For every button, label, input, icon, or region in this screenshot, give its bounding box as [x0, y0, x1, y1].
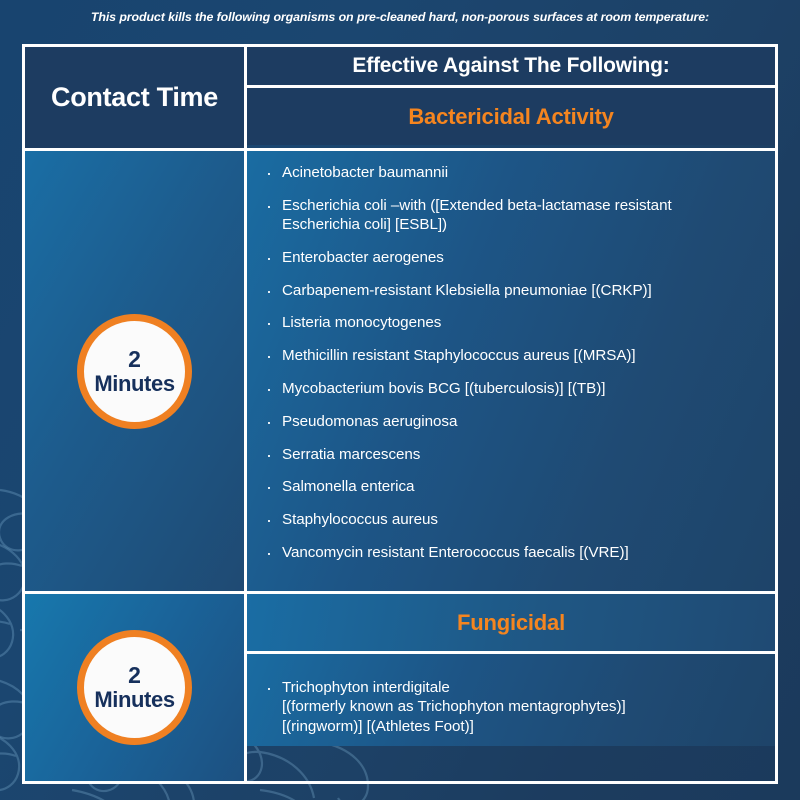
organism-text-line: Enterobacter aerogenes — [282, 249, 444, 266]
organism-text-line: Mycobacterium bovis BCG [(tuberculosis)]… — [282, 380, 605, 397]
organism-list-item: Listeria monocytogenes — [265, 313, 759, 332]
effective-against-label: Effective Against The Following: — [352, 54, 669, 78]
organism-text-line: Carbapenem-resistant Klebsiella pneumoni… — [282, 282, 652, 299]
organism-text-line: Acinetobacter baumannii — [282, 164, 448, 181]
page-background: This product kills the following organis… — [0, 0, 800, 800]
organism-list-item: Pseudomonas aeruginosa — [265, 412, 759, 431]
contact-time-unit: Minutes — [94, 372, 174, 396]
bactericidal-section-band: Bactericidal Activity — [247, 88, 775, 145]
organism-text-line: [(ringworm)] [(Athletes Foot)] — [282, 717, 759, 736]
organism-text-line: Escherichia coli –with ([Extended beta-l… — [282, 197, 672, 214]
contact-time-value: 2 — [128, 347, 141, 372]
page-caption: This product kills the following organis… — [0, 10, 800, 24]
contact-time-unit: Minutes — [94, 688, 174, 712]
organism-list-item: Staphylococcus aureus — [265, 510, 759, 529]
effective-against-header-cell: Effective Against The Following: Bacteri… — [244, 47, 775, 148]
organism-text-line: Serratia marcescens — [282, 446, 420, 463]
organism-list-item: Acinetobacter baumannii — [265, 163, 759, 182]
contact-time-badge-bactericidal: 2 Minutes — [77, 314, 192, 429]
bactericidal-organism-list: Acinetobacter baumanniiEscherichia coli … — [265, 163, 759, 562]
fungicidal-section-band: Fungicidal — [247, 594, 775, 654]
organism-list-item: Escherichia coli –with ([Extended beta-l… — [265, 196, 759, 235]
fungicidal-organism-list-cell: Trichophyton interdigitale[(formerly kno… — [247, 654, 775, 746]
organism-text-line: Methicillin resistant Staphylococcus aur… — [282, 347, 636, 364]
organism-text-line: Listeria monocytogenes — [282, 314, 441, 331]
organism-list-item: Carbapenem-resistant Klebsiella pneumoni… — [265, 281, 759, 300]
contact-time-header-cell: Contact Time — [25, 47, 244, 148]
organism-list-item: Enterobacter aerogenes — [265, 248, 759, 267]
organism-list-item: Mycobacterium bovis BCG [(tuberculosis)]… — [265, 379, 759, 398]
fungicidal-contact-time-cell: 2 Minutes — [25, 594, 244, 781]
contact-time-value: 2 — [128, 663, 141, 688]
bactericidal-section-title: Bactericidal Activity — [408, 104, 613, 130]
organism-text-line: Staphylococcus aureus — [282, 511, 438, 528]
organism-text-line: Escherichia coli] [ESBL]) — [282, 215, 759, 234]
table-header-row: Contact Time Effective Against The Follo… — [25, 47, 775, 148]
organism-list-item: Vancomycin resistant Enterococcus faecal… — [265, 543, 759, 562]
fungicidal-content-cell: Fungicidal Trichophyton interdigitale[(f… — [244, 594, 775, 781]
organism-list-item: Trichophyton interdigitale[(formerly kno… — [265, 678, 759, 736]
organism-list-item: Serratia marcescens — [265, 445, 759, 464]
bactericidal-row: 2 Minutes Acinetobacter baumanniiEscheri… — [25, 148, 775, 591]
organism-text-line: Pseudomonas aeruginosa — [282, 413, 457, 430]
fungicidal-section-title: Fungicidal — [457, 610, 565, 636]
contact-time-header-label: Contact Time — [51, 82, 218, 113]
organism-list-item: Methicillin resistant Staphylococcus aur… — [265, 346, 759, 365]
effective-against-title-band: Effective Against The Following: — [247, 47, 775, 88]
organism-text-line: Vancomycin resistant Enterococcus faecal… — [282, 544, 629, 561]
fungicidal-organism-list: Trichophyton interdigitale[(formerly kno… — [265, 678, 759, 736]
organism-text-line: [(formerly known as Trichophyton mentagr… — [282, 697, 759, 716]
organism-efficacy-table: Contact Time Effective Against The Follo… — [22, 44, 778, 784]
organism-text-line: Salmonella enterica — [282, 478, 414, 495]
bactericidal-contact-time-cell: 2 Minutes — [25, 151, 244, 591]
fungicidal-row: 2 Minutes Fungicidal Trichophyton interd… — [25, 591, 775, 781]
organism-list-item: Salmonella enterica — [265, 477, 759, 496]
bactericidal-organism-list-cell: Acinetobacter baumanniiEscherichia coli … — [244, 151, 775, 591]
organism-text-line: Trichophyton interdigitale — [282, 679, 450, 696]
contact-time-badge-fungicidal: 2 Minutes — [77, 630, 192, 745]
